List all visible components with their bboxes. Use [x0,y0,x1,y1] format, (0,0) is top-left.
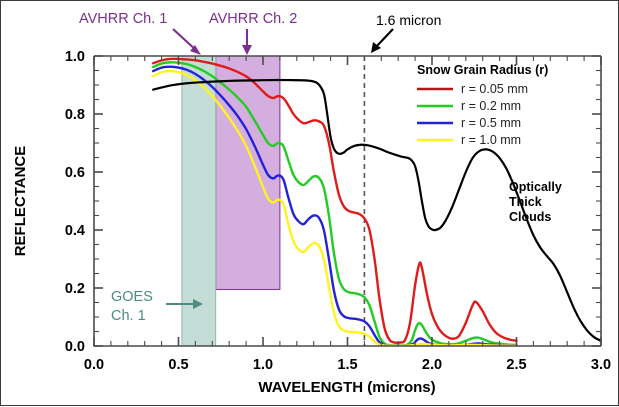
x-tick-label: 0.0 [84,357,104,373]
y-tick-label: 0.0 [65,339,85,355]
avhrr-ch1-arrow [173,29,201,55]
x-tick-label: 0.5 [168,357,188,373]
legend: Snow Grain Radius (r) r = 0.05 mm r = 0.… [417,63,548,147]
goes-ch1-label-line2: Ch. 1 [111,308,146,324]
legend-label-3: r = 0.5 mm [461,116,521,130]
avhrr-ch2-label: AVHRR Ch. 2 [209,11,297,27]
legend-label-4: r = 1.0 mm [461,133,521,147]
reflectance-chart: 0.00.51.01.52.02.53.00.00.20.40.60.81.0 … [1,1,619,407]
y-tick-label: 0.4 [65,223,85,239]
x-axis-title: WAVELENGTH (microns) [258,379,435,396]
micron-label: 1.6 micron [376,12,441,28]
y-tick-label: 0.2 [65,281,85,297]
x-tick-label: 1.5 [337,357,357,373]
cloud-label-line2: Thick [509,195,542,209]
goes-ch1-label-line1: GOES [111,289,153,305]
micron-arrow [371,29,393,53]
avhrr-ch2-arrow [242,29,252,55]
y-axis-title: REFLECTANCE [12,146,29,257]
legend-title: Snow Grain Radius (r) [417,63,548,77]
y-tick-label: 0.6 [65,165,85,181]
band-avhrr-ch-2 [216,56,280,289]
x-tick-label: 2.0 [422,357,442,373]
x-tick-label: 3.0 [591,357,611,373]
figure-container: 0.00.51.01.52.02.53.00.00.20.40.60.81.0 … [0,0,619,406]
x-tick-label: 2.5 [506,357,526,373]
cloud-label-line3: Clouds [509,210,551,224]
legend-label-1: r = 0.05 mm [461,82,528,96]
x-tick-label: 1.0 [253,357,273,373]
legend-label-2: r = 0.2 mm [461,99,521,113]
y-tick-label: 0.8 [65,107,85,123]
avhrr-ch1-label: AVHRR Ch. 1 [79,11,167,27]
cloud-label-line1: Optically [509,180,562,194]
y-tick-label: 1.0 [65,49,85,65]
